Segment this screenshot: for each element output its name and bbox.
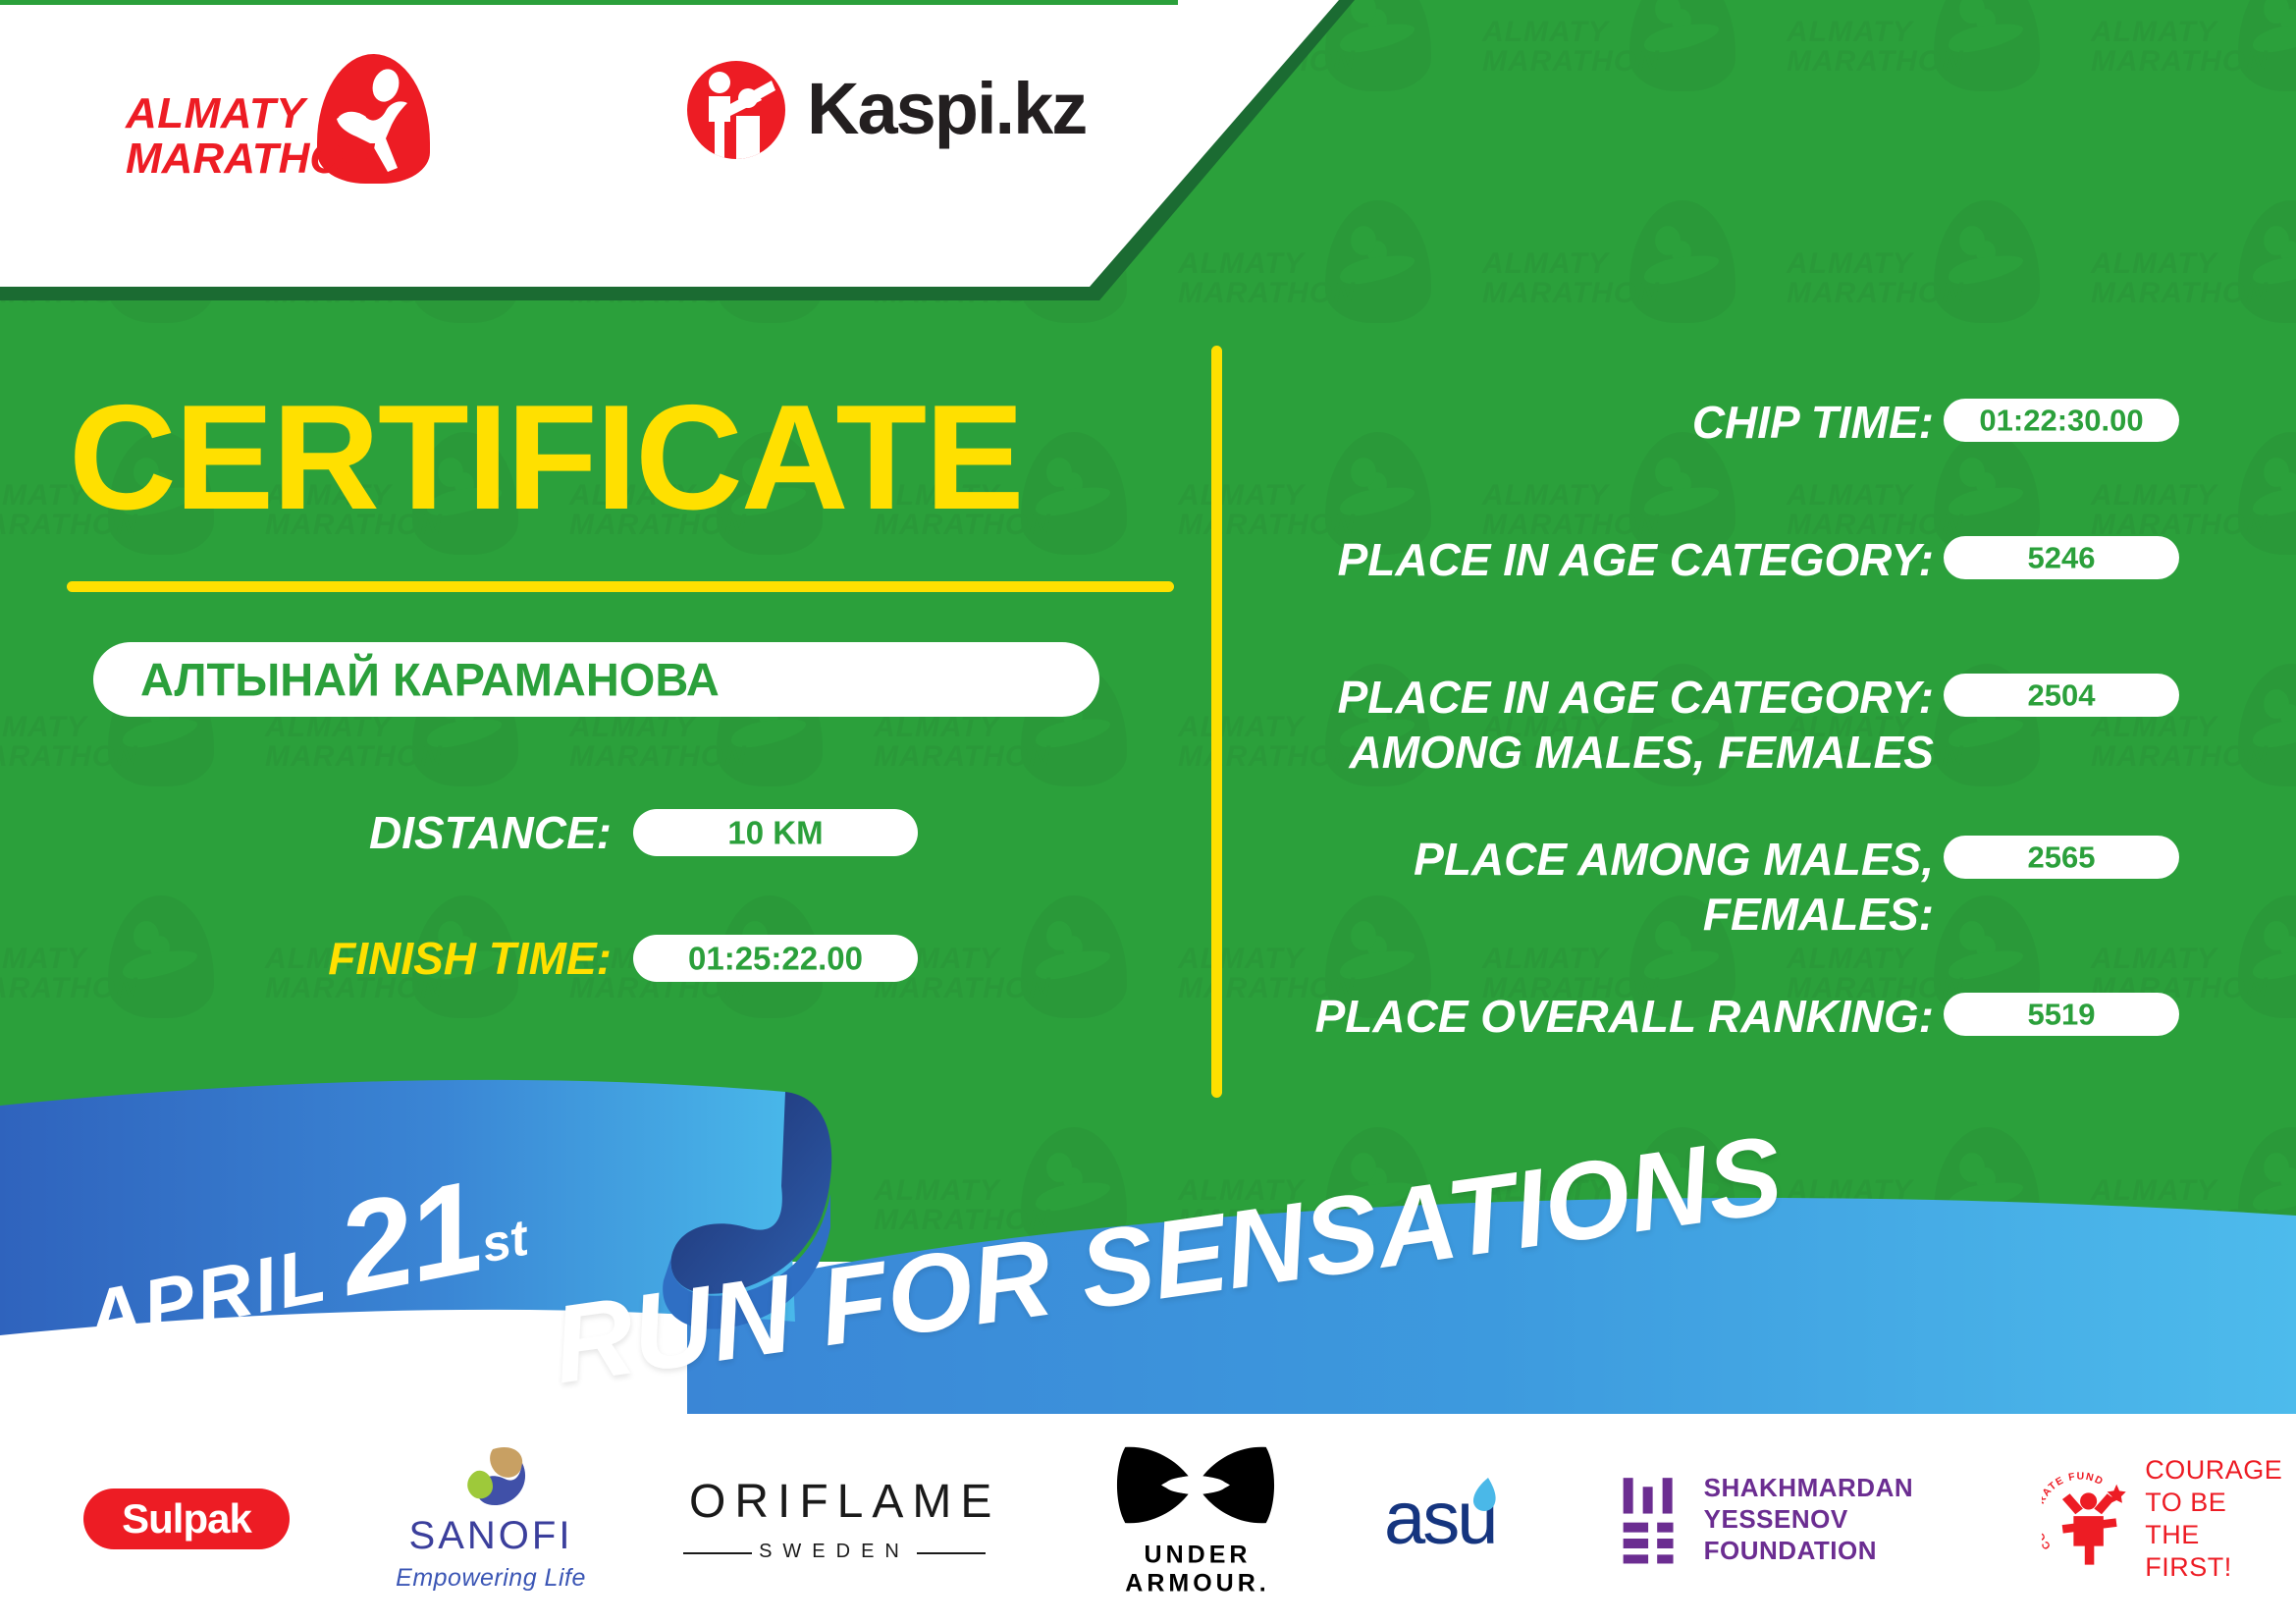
- watermark-text: ALMATY MARATHON: [2091, 713, 2268, 772]
- stat-label: PLACE OVERALL RANKING:: [1315, 989, 1934, 1044]
- participant-name: АЛТЫНАЙ КАРАМАНОВА: [140, 657, 720, 703]
- stat-value: 5246: [1944, 543, 2179, 573]
- watermark-tile: ALMATY MARATHON: [1178, 192, 1482, 424]
- kaspi-mark-icon: [687, 61, 785, 159]
- header-top-rule: [0, 0, 1178, 5]
- page-title: CERTIFICATE: [69, 383, 1168, 532]
- watermark-text: ALMATY MARATHON: [265, 713, 442, 772]
- kaspi-wordmark: Kaspi.kz: [807, 73, 1086, 145]
- kaspi-people-icon: [687, 61, 785, 159]
- watermark-text: ALMATY MARATHON: [1787, 249, 1963, 308]
- stat-value-pill: 01:22:30.00: [1944, 399, 2179, 442]
- courage-wordmark: COURAGE TO BE THE FIRST!: [2145, 1454, 2287, 1584]
- watermark-text: ALMATY MARATHON: [1178, 713, 1355, 772]
- sponsor-bar: Sulpak SANOFI Empowering Life ORIFLAME S…: [0, 1414, 2296, 1624]
- sanofi-logo: SANOFI Empowering Life: [373, 1445, 609, 1593]
- stat-value-pill: 2504: [1944, 674, 2179, 717]
- stat-value-pill: 5246: [1944, 536, 2179, 579]
- stat-value-pill: 2565: [1944, 836, 2179, 879]
- stat-value: 2565: [1944, 842, 2179, 873]
- watermark-text: ALMATY MARATHON: [1482, 481, 1659, 540]
- asu-drop-icon: [1468, 1476, 1502, 1517]
- finish-time-value-pill: 01:25:22.00: [633, 935, 918, 982]
- stat-label: PLACE IN AGE CATEGORY:: [1338, 532, 1934, 587]
- watermark-text: ALMATY MARATHON: [569, 713, 746, 772]
- watermark-text: ALMATY MARATHON: [1482, 18, 1659, 77]
- event-day: 21: [327, 1154, 492, 1323]
- watermark-text: ALMATY MARATHON: [1178, 481, 1355, 540]
- oriflame-logo: ORIFLAME SWEDEN: [689, 1475, 980, 1563]
- vertical-divider: [1211, 346, 1222, 1098]
- oriflame-wordmark: ORIFLAME: [689, 1475, 980, 1529]
- certificate-page: ALMATY MARATHONALMATY MARATHONALMATY MAR…: [0, 0, 2296, 1624]
- participant-name-field: АЛТЫНАЙ КАРАМАНОВА: [93, 642, 1099, 717]
- watermark-text: ALMATY MARATHON: [2091, 18, 2268, 77]
- title-underline: [67, 581, 1174, 592]
- distance-label: DISTANCE:: [369, 810, 612, 855]
- watermark-tile: ALMATY MARATHON: [2091, 0, 2296, 192]
- watermark-text: ALMATY MARATHON: [1787, 18, 1963, 77]
- watermark-tile: ALMATY MARATHON: [1787, 0, 2091, 192]
- kaspi-logo: Kaspi.kz: [687, 61, 1099, 169]
- sanofi-mark-icon: [432, 1445, 550, 1510]
- yessenov-logo: SHAKHMARDAN YESSENOV FOUNDATION: [1620, 1470, 2032, 1568]
- distance-value-pill: 10 KM: [633, 809, 918, 856]
- courage-runner-icon: CORPORATE FUND: [2042, 1465, 2135, 1573]
- stat-label: CHIP TIME:: [1692, 395, 1934, 450]
- stat-label: PLACE AMONG MALES, FEMALES:: [1414, 832, 1934, 942]
- sponsor-oriflame: ORIFLAME SWEDEN: [677, 1414, 991, 1624]
- watermark-text: ALMATY MARATHON: [2091, 481, 2268, 540]
- stat-value: 01:22:30.00: [1944, 406, 2179, 436]
- stat-value-pill: 5519: [1944, 993, 2179, 1036]
- watermark-tile: ALMATY MARATHON: [1482, 0, 1787, 192]
- distance-value: 10 KM: [633, 817, 918, 849]
- sponsor-shakhmardan-yessenov-foundation: SHAKHMARDAN YESSENOV FOUNDATION: [1620, 1414, 2032, 1624]
- sponsor-sulpak: Sulpak: [59, 1414, 314, 1624]
- marathon-logo-line2: MARATHON: [126, 136, 374, 182]
- yessenov-mark-icon: [1620, 1470, 1682, 1568]
- marathon-logo-line1: ALMATY: [126, 91, 374, 136]
- watermark-tile: ALMATY MARATHON: [1787, 192, 2091, 424]
- sponsor-sanofi: SANOFI Empowering Life: [363, 1414, 618, 1624]
- watermark-text: ALMATY MARATHON: [2091, 249, 2268, 308]
- sanofi-tagline: Empowering Life: [373, 1564, 609, 1593]
- almaty-marathon-wordmark: ALMATY MARATHON: [126, 91, 374, 182]
- finish-time-label: FINISH TIME:: [328, 936, 612, 981]
- sponsor-courage-to-be-the-first: CORPORATE FUND COURAGE TO BE THE FIRST!: [2042, 1414, 2287, 1624]
- stat-value: 5519: [1944, 1000, 2179, 1030]
- watermark-text: ALMATY MARATHON: [1178, 249, 1355, 308]
- asu-logo: asu: [1384, 1482, 1580, 1556]
- stat-value: 2504: [1944, 680, 2179, 711]
- watermark-text: ALMATY MARATHON: [1787, 481, 1963, 540]
- under-armour-logo: UNDER ARMOUR.: [1097, 1440, 1298, 1598]
- yessenov-wordmark: SHAKHMARDAN YESSENOV FOUNDATION: [1704, 1472, 2032, 1566]
- finish-time-value: 01:25:22.00: [633, 943, 918, 975]
- watermark-tile: ALMATY MARATHON: [1482, 192, 1787, 424]
- under-armour-icon: [1097, 1440, 1294, 1531]
- watermark-text: ALMATY MARATHON: [1482, 249, 1659, 308]
- sponsor-asu: asu: [1364, 1414, 1600, 1624]
- watermark-tile: ALMATY MARATHON: [2091, 192, 2296, 424]
- watermark-text: ALMATY MARATHON: [874, 713, 1050, 772]
- sponsor-under-armour: UNDER ARMOUR.: [1060, 1414, 1335, 1624]
- under-armour-wordmark: UNDER ARMOUR.: [1097, 1542, 1298, 1598]
- stat-label: PLACE IN AGE CATEGORY: AMONG MALES, FEMA…: [1338, 670, 1934, 780]
- sanofi-wordmark: SANOFI: [373, 1514, 609, 1558]
- oriflame-sub: SWEDEN: [689, 1541, 980, 1563]
- sulpak-logo: Sulpak: [83, 1489, 290, 1549]
- watermark-text: ALMATY MARATHON: [0, 945, 137, 1003]
- almaty-marathon-logo: ALMATY MARATHON: [126, 54, 440, 182]
- watermark-text: ALMATY MARATHON: [0, 713, 137, 772]
- courage-logo: CORPORATE FUND COURAGE TO BE THE FIRST!: [2042, 1454, 2287, 1584]
